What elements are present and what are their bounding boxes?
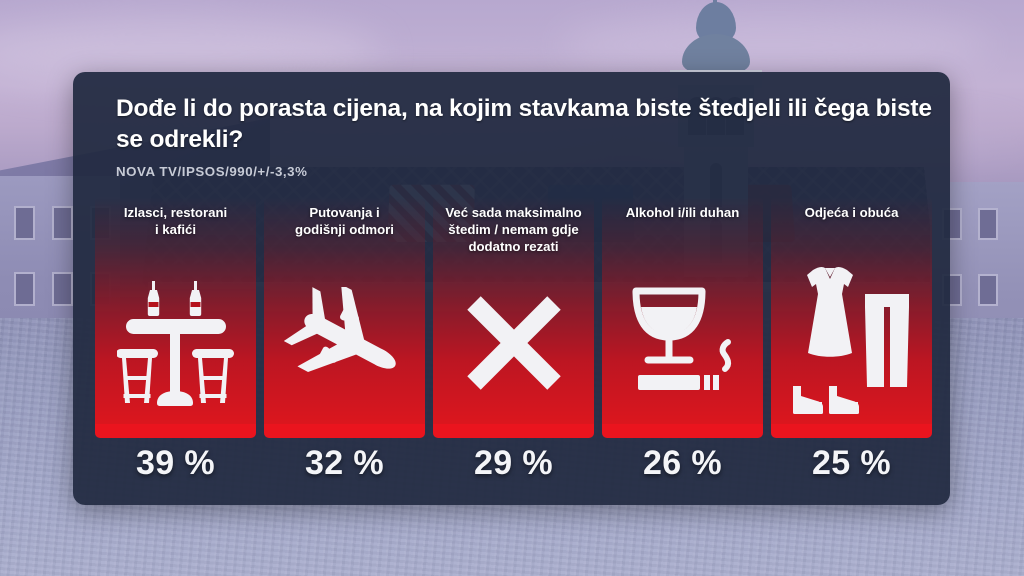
card-label: Izlasci, restorani i kafići [95, 205, 256, 239]
card-label: Putovanja i godišnji odmori [264, 205, 425, 239]
card-accent-bar [771, 424, 932, 438]
card-label-line: i kafići [155, 222, 196, 237]
icon-container [602, 268, 763, 418]
card-label-line: dodatno rezati [468, 239, 558, 254]
card-value: 32 % [305, 444, 384, 483]
card-label: Alkohol i/ili duhan [602, 205, 763, 222]
icon-container [433, 268, 594, 418]
source-attribution: NOVA TV/IPSOS/990/+/-3,3% [116, 164, 950, 179]
card-label-line: Odjeća i obuća [805, 205, 899, 220]
infographic-panel: Dođe li do porasta cijena, na kojim stav… [73, 72, 950, 505]
icon-container [264, 268, 425, 418]
card-value: 29 % [474, 444, 553, 483]
airplane-icon [284, 287, 406, 399]
card-accent-bar [433, 424, 594, 438]
card-value: 26 % [643, 444, 722, 483]
card-body: Već sada maksimalno štedim / nemam gdje … [433, 197, 594, 424]
result-card-odjeca-obuca[interactable]: Odjeća i obuća [771, 197, 932, 483]
card-label-line: Alkohol i/ili duhan [626, 205, 740, 220]
card-value: 25 % [812, 444, 891, 483]
card-value: 39 % [136, 444, 215, 483]
window [978, 274, 998, 306]
result-card-putovanja-godisnji-odmori[interactable]: Putovanja i godišnji odmori [264, 197, 425, 483]
window [14, 272, 35, 306]
window [52, 272, 73, 306]
card-label-line: godišnji odmori [295, 222, 394, 237]
results-row: Izlasci, restorani i kafići [95, 197, 932, 483]
card-body: Putovanja i godišnji odmori [264, 197, 425, 424]
result-card-alkohol-duhan[interactable]: Alkohol i/ili duhan [602, 197, 763, 483]
panel-header: Dođe li do porasta cijena, na kojim stav… [73, 72, 950, 179]
window [14, 206, 35, 240]
cross-x-icon [464, 293, 564, 393]
card-label: Već sada maksimalno štedim / nemam gdje … [433, 205, 594, 256]
dress-trousers-shoes-icon [787, 264, 917, 420]
result-card-izlasci-restorani-kafici[interactable]: Izlasci, restorani i kafići [95, 197, 256, 483]
page-title: Dođe li do porasta cijena, na kojim stav… [116, 94, 950, 156]
card-accent-bar [602, 424, 763, 438]
card-body: Alkohol i/ili duhan [602, 197, 763, 424]
icon-container [771, 262, 932, 422]
card-body: Odjeća i obuća [771, 197, 932, 424]
card-label-line: Već sada maksimalno [445, 205, 581, 220]
card-body: Izlasci, restorani i kafići [95, 197, 256, 424]
icon-container [95, 268, 256, 418]
card-accent-bar [264, 424, 425, 438]
card-label-line: Putovanja i [309, 205, 379, 220]
glass-cigarette-icon [624, 281, 742, 405]
result-card-vec-sada-maksimalno-stedim[interactable]: Već sada maksimalno štedim / nemam gdje … [433, 197, 594, 483]
tower-dome-lower [682, 34, 750, 74]
card-label: Odjeća i obuća [771, 205, 932, 222]
card-accent-bar [95, 424, 256, 438]
card-label-line: štedim / nemam gdje [448, 222, 578, 237]
window [52, 206, 73, 240]
window [978, 208, 998, 240]
bar-table-stools-icon [117, 277, 235, 409]
card-label-line: Izlasci, restorani [124, 205, 227, 220]
